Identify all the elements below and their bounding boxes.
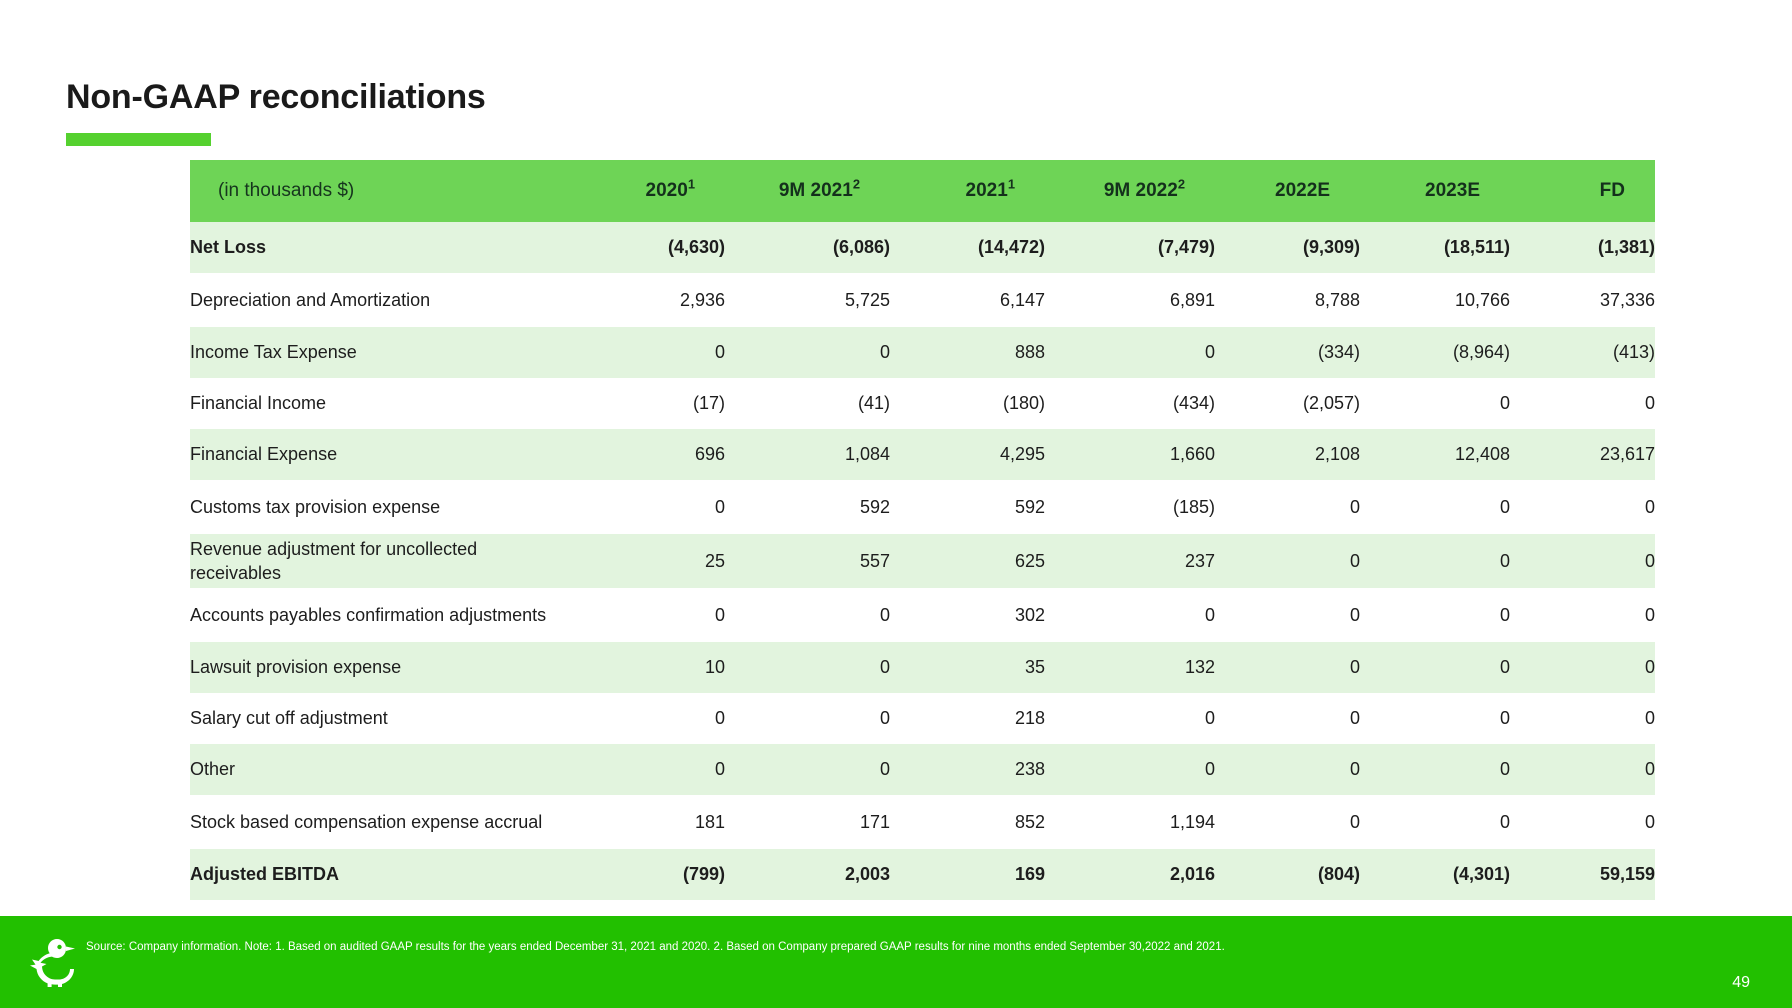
- table-header-cell: 9M 20212: [725, 160, 890, 222]
- table-cell: 0: [560, 744, 725, 795]
- table-cell: 557: [725, 534, 890, 588]
- row-label: Stock based compensation expense accrual: [190, 795, 560, 849]
- table-cell: (8,964): [1360, 327, 1510, 378]
- table-cell: 0: [1215, 480, 1360, 534]
- table-cell: 0: [725, 642, 890, 693]
- table-cell: 0: [725, 744, 890, 795]
- table-cell: 0: [1045, 744, 1215, 795]
- table-header-footnote-marker: 1: [688, 177, 695, 192]
- table-cell: (334): [1215, 327, 1360, 378]
- table-cell: 0: [1215, 534, 1360, 588]
- table-cell: 0: [1045, 327, 1215, 378]
- table-cell: (804): [1215, 849, 1360, 900]
- table-cell: (6,086): [725, 222, 890, 273]
- table-body: Net Loss(4,630)(6,086)(14,472)(7,479)(9,…: [190, 222, 1655, 900]
- page-title: Non-GAAP reconciliations: [66, 78, 486, 117]
- table-cell: (9,309): [1215, 222, 1360, 273]
- table-cell: 592: [890, 480, 1045, 534]
- table-header-text: 9M 2022: [1104, 180, 1178, 201]
- table-cell: 0: [1360, 744, 1510, 795]
- table-cell: 37,336: [1510, 273, 1655, 327]
- table-cell: 2,936: [560, 273, 725, 327]
- table-cell: 696: [560, 429, 725, 480]
- table-cell: (2,057): [1215, 378, 1360, 429]
- table-cell: 0: [1360, 534, 1510, 588]
- table-row: Revenue adjustment for uncollected recei…: [190, 534, 1655, 588]
- table-cell: 0: [1360, 693, 1510, 744]
- table-cell: 132: [1045, 642, 1215, 693]
- table-row: Net Loss(4,630)(6,086)(14,472)(7,479)(9,…: [190, 222, 1655, 273]
- table-cell: 0: [1510, 642, 1655, 693]
- table-cell: 2,108: [1215, 429, 1360, 480]
- table-row: Other002380000: [190, 744, 1655, 795]
- table-cell: 238: [890, 744, 1045, 795]
- table-cell: 181: [560, 795, 725, 849]
- table-cell: (4,301): [1360, 849, 1510, 900]
- table-row: Lawsuit provision expense10035132000: [190, 642, 1655, 693]
- table-row: Financial Expense6961,0844,2951,6602,108…: [190, 429, 1655, 480]
- table-cell: 2,003: [725, 849, 890, 900]
- table-cell: 0: [1360, 588, 1510, 642]
- table-row: Depreciation and Amortization2,9365,7256…: [190, 273, 1655, 327]
- footer-source-note: Source: Company information. Note: 1. Ba…: [86, 940, 1386, 955]
- table-cell: 35: [890, 642, 1045, 693]
- row-label: Income Tax Expense: [190, 327, 560, 378]
- table-header-footnote-marker: 2: [1178, 177, 1185, 192]
- table-cell: 625: [890, 534, 1045, 588]
- table-cell: 0: [1510, 378, 1655, 429]
- table-row: Salary cut off adjustment002180000: [190, 693, 1655, 744]
- table-cell: 0: [1045, 588, 1215, 642]
- table-header-text: 2021: [966, 180, 1008, 201]
- table-cell: (434): [1045, 378, 1215, 429]
- table-cell: 1,660: [1045, 429, 1215, 480]
- table-header: (in thousands $)202019M 20212202119M 202…: [190, 160, 1655, 222]
- table-cell: 592: [725, 480, 890, 534]
- table-row: Financial Income(17)(41)(180)(434)(2,057…: [190, 378, 1655, 429]
- table-cell: 0: [560, 693, 725, 744]
- table-header-text: 9M 2021: [779, 180, 853, 201]
- table-cell: 0: [1215, 588, 1360, 642]
- row-label: Other: [190, 744, 560, 795]
- table-header-cell: 9M 20222: [1045, 160, 1215, 222]
- reconciliation-table-wrapper: (in thousands $)202019M 20212202119M 202…: [190, 160, 1655, 900]
- table-cell: (14,472): [890, 222, 1045, 273]
- table-cell: (41): [725, 378, 890, 429]
- table-cell: (4,630): [560, 222, 725, 273]
- table-cell: (17): [560, 378, 725, 429]
- table-cell: (413): [1510, 327, 1655, 378]
- table-row: Income Tax Expense008880(334)(8,964)(413…: [190, 327, 1655, 378]
- table-header-cell: 2022E: [1215, 160, 1360, 222]
- table-cell: (185): [1045, 480, 1215, 534]
- table-header-footnote-marker: 1: [1008, 177, 1015, 192]
- footer-bar: Source: Company information. Note: 1. Ba…: [0, 916, 1792, 1008]
- table-cell: 1,194: [1045, 795, 1215, 849]
- table-cell: 0: [1510, 534, 1655, 588]
- table-cell: 0: [560, 327, 725, 378]
- table-cell: (180): [890, 378, 1045, 429]
- row-label: Depreciation and Amortization: [190, 273, 560, 327]
- table-header-cell: FD: [1510, 160, 1655, 222]
- table-cell: 5,725: [725, 273, 890, 327]
- table-header-text: 2022E: [1275, 180, 1330, 201]
- table-row: Adjusted EBITDA(799)2,0031692,016(804)(4…: [190, 849, 1655, 900]
- table-cell: (799): [560, 849, 725, 900]
- table-header-cell: 20211: [890, 160, 1045, 222]
- table-cell: (18,511): [1360, 222, 1510, 273]
- table-cell: 0: [1510, 744, 1655, 795]
- table-header-cell: 20201: [560, 160, 725, 222]
- table-header-text: 2023E: [1425, 180, 1480, 201]
- table-header-label-cell: (in thousands $): [190, 160, 560, 222]
- table-cell: 0: [1215, 795, 1360, 849]
- table-cell: 0: [1360, 642, 1510, 693]
- duck-logo-icon: [28, 934, 82, 990]
- table-cell: (1,381): [1510, 222, 1655, 273]
- table-cell: 0: [725, 693, 890, 744]
- table-cell: 12,408: [1360, 429, 1510, 480]
- reconciliation-table: (in thousands $)202019M 20212202119M 202…: [190, 160, 1655, 900]
- table-cell: 0: [560, 480, 725, 534]
- table-cell: 6,891: [1045, 273, 1215, 327]
- row-label: Salary cut off adjustment: [190, 693, 560, 744]
- table-header-row: (in thousands $)202019M 20212202119M 202…: [190, 160, 1655, 222]
- row-label: Financial Income: [190, 378, 560, 429]
- row-label: Financial Expense: [190, 429, 560, 480]
- row-label: Lawsuit provision expense: [190, 642, 560, 693]
- table-header-text: FD: [1600, 180, 1625, 201]
- table-cell: 0: [560, 588, 725, 642]
- table-cell: 0: [1360, 795, 1510, 849]
- table-cell: 0: [725, 588, 890, 642]
- table-header-cell: 2023E: [1360, 160, 1510, 222]
- table-cell: 2,016: [1045, 849, 1215, 900]
- table-header-footnote-marker: 2: [853, 177, 860, 192]
- table-cell: 0: [1510, 480, 1655, 534]
- row-label: Adjusted EBITDA: [190, 849, 560, 900]
- table-cell: 0: [725, 327, 890, 378]
- table-cell: 0: [1045, 693, 1215, 744]
- row-label: Accounts payables confirmation adjustmen…: [190, 588, 560, 642]
- table-cell: 0: [1360, 378, 1510, 429]
- row-label: Customs tax provision expense: [190, 480, 560, 534]
- table-cell: 852: [890, 795, 1045, 849]
- table-cell: 0: [1215, 642, 1360, 693]
- table-cell: 0: [1510, 588, 1655, 642]
- table-row: Customs tax provision expense0592592(185…: [190, 480, 1655, 534]
- table-cell: 888: [890, 327, 1045, 378]
- table-header-text: (in thousands $): [218, 180, 354, 201]
- table-cell: 0: [1510, 693, 1655, 744]
- slide: Non-GAAP reconciliations (in thousands $…: [0, 0, 1792, 1008]
- table-cell: 0: [1215, 693, 1360, 744]
- table-cell: 171: [725, 795, 890, 849]
- table-row: Accounts payables confirmation adjustmen…: [190, 588, 1655, 642]
- page-number: 49: [1732, 974, 1750, 992]
- table-row: Stock based compensation expense accrual…: [190, 795, 1655, 849]
- table-cell: 25: [560, 534, 725, 588]
- table-cell: 0: [1360, 480, 1510, 534]
- table-cell: 8,788: [1215, 273, 1360, 327]
- row-label: Net Loss: [190, 222, 560, 273]
- table-cell: 10,766: [1360, 273, 1510, 327]
- table-cell: (7,479): [1045, 222, 1215, 273]
- row-label: Revenue adjustment for uncollected recei…: [190, 534, 560, 588]
- table-cell: 10: [560, 642, 725, 693]
- table-cell: 4,295: [890, 429, 1045, 480]
- table-cell: 237: [1045, 534, 1215, 588]
- table-cell: 23,617: [1510, 429, 1655, 480]
- title-accent-bar: [66, 133, 211, 146]
- table-cell: 218: [890, 693, 1045, 744]
- table-cell: 169: [890, 849, 1045, 900]
- table-cell: 0: [1215, 744, 1360, 795]
- table-cell: 59,159: [1510, 849, 1655, 900]
- table-header-text: 2020: [646, 180, 688, 201]
- table-cell: 0: [1510, 795, 1655, 849]
- table-cell: 302: [890, 588, 1045, 642]
- table-cell: 1,084: [725, 429, 890, 480]
- table-cell: 6,147: [890, 273, 1045, 327]
